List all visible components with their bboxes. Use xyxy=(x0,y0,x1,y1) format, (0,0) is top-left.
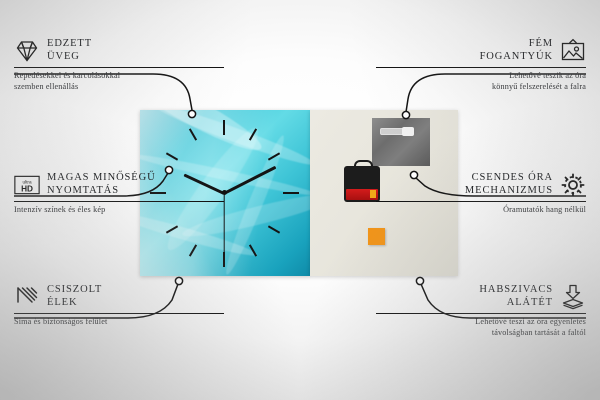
hanger-slot xyxy=(380,128,414,135)
feature-divider xyxy=(376,313,586,314)
feature-subtitle-line1: Lehetővé teszik az óra xyxy=(376,71,586,82)
svg-text:ultra: ultra xyxy=(22,179,31,184)
battery xyxy=(346,189,378,200)
clock-tick xyxy=(189,244,197,256)
feature-divider xyxy=(376,67,586,68)
feature-title-line2: ÉLEK xyxy=(47,297,102,310)
feature-title-line1: HABSZIVACS xyxy=(479,284,553,297)
feature-title-line1: MAGAS MINŐSÉGŰ xyxy=(47,172,156,185)
clock-tick xyxy=(268,225,280,233)
metal-hanger-plate xyxy=(372,118,430,166)
clock-tick xyxy=(189,128,197,140)
feature-subtitle-line1: Repedésekkel és karcolásokkal xyxy=(14,71,224,82)
feature-subtitle-line1: Intenzív színek és éles kép xyxy=(14,205,224,216)
feature-title-line2: ALÁTÉT xyxy=(479,297,553,310)
foam-spacer-pad xyxy=(368,228,385,245)
feature-metal-handles[interactable]: FÉM FOGANTYÚK Lehetővé teszik az óra kön… xyxy=(376,38,586,93)
ultra-hd-icon: ultra HD xyxy=(14,172,40,198)
feature-title-line2: MECHANIZMUS xyxy=(465,185,553,198)
svg-text:HD: HD xyxy=(21,185,33,194)
clock-tick xyxy=(223,120,225,135)
feature-tempered-glass[interactable]: EDZETT ÜVEG Repedésekkel és karcolásokka… xyxy=(14,38,224,93)
feature-divider xyxy=(376,201,586,202)
press-pad-icon xyxy=(560,284,586,310)
feature-title-line1: CSISZOLT xyxy=(47,284,102,297)
feature-quiet-mechanism[interactable]: CSENDES ÓRA MECHANIZMUS Óramutatók hang … xyxy=(376,172,586,216)
feature-divider xyxy=(14,67,224,68)
feature-divider xyxy=(14,201,224,202)
gear-icon xyxy=(560,172,586,198)
feature-subtitle-line1: Sima és biztonságos felület xyxy=(14,317,224,328)
infographic-canvas: EDZETT ÜVEG Repedésekkel és karcolásokka… xyxy=(0,0,600,400)
feature-title-line2: NYOMTATÁS xyxy=(47,185,156,198)
feature-title-line2: FOGANTYÚK xyxy=(480,51,553,64)
feature-title-line1: EDZETT xyxy=(47,38,92,51)
feature-subtitle-line2: könnyű felszerelését a falra xyxy=(376,82,586,93)
diamond-icon xyxy=(14,38,40,64)
feature-subtitle-line1: Óramutatók hang nélkül xyxy=(376,205,586,216)
feature-title-line1: CSENDES ÓRA xyxy=(465,172,553,185)
feature-title-line1: FÉM xyxy=(480,38,553,51)
polished-edges-icon xyxy=(14,284,40,310)
feature-divider xyxy=(14,313,224,314)
feature-title-line2: ÜVEG xyxy=(47,51,92,64)
feature-polished-edges[interactable]: CSISZOLT ÉLEK Sima és biztonságos felüle… xyxy=(14,284,224,328)
feature-foam-spacer[interactable]: HABSZIVACS ALÁTÉT Lehetővé teszi az óra … xyxy=(376,284,586,339)
feature-subtitle-line2: szemben ellenállás xyxy=(14,82,224,93)
feature-subtitle-line2: távolságban tartását a faltól xyxy=(376,328,586,339)
clock-tick xyxy=(283,192,299,194)
clock-mechanism-module xyxy=(344,166,380,202)
mechanism-hanging-loop xyxy=(354,160,373,171)
picture-hanger-icon xyxy=(560,38,586,64)
feature-high-quality-print[interactable]: ultra HD MAGAS MINŐSÉGŰ NYOMTATÁS Intenz… xyxy=(14,172,224,216)
feature-subtitle-line1: Lehetővé teszi az óra egyenletes xyxy=(376,317,586,328)
